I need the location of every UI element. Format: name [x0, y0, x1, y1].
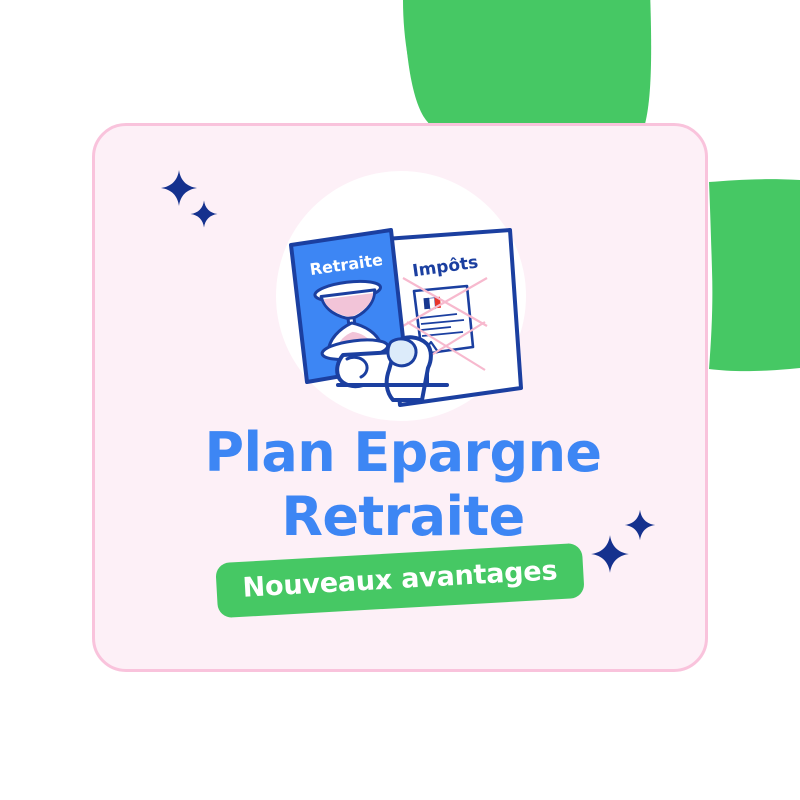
- green-blob-right: [709, 179, 800, 371]
- poster-canvas: Impôts: [0, 0, 800, 800]
- green-blob-top-b: [404, 0, 651, 124]
- promo-card: Impôts: [92, 123, 708, 672]
- page-title: Plan Epargne Retraite: [95, 421, 708, 548]
- status-badge: Nouveaux avantages: [215, 543, 585, 618]
- page-title-line-2: Retraite: [95, 485, 708, 549]
- retirement-documents-illustration: Impôts: [95, 126, 708, 456]
- page-title-line-1: Plan Epargne: [95, 421, 708, 485]
- green-blob-top: [403, 0, 648, 132]
